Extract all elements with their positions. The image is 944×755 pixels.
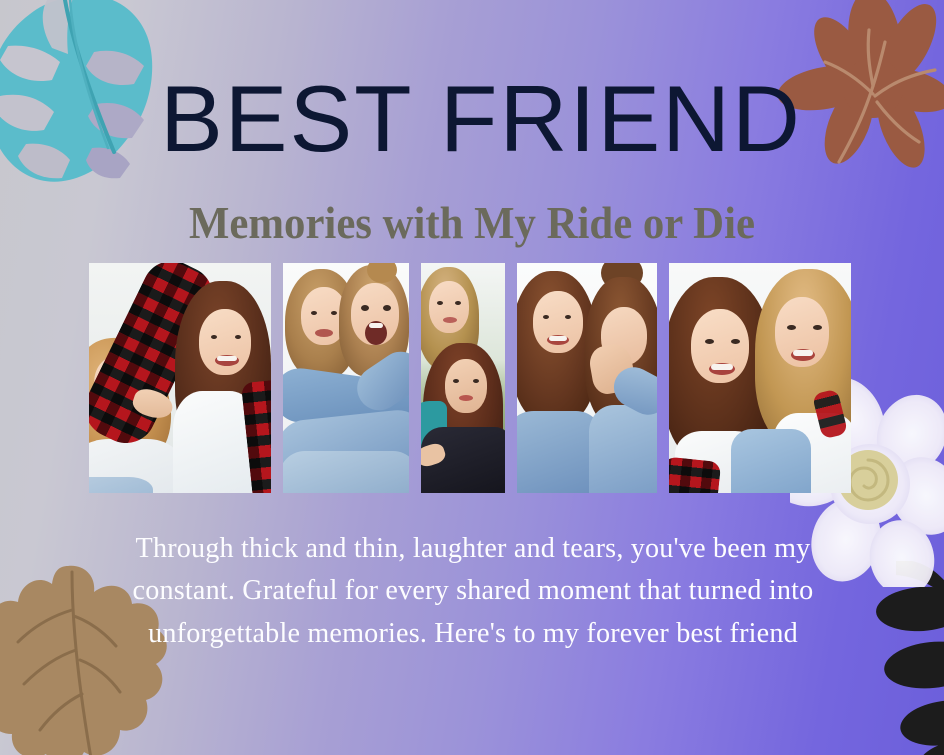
poster-quote: Through thick and thin, laughter and tea… xyxy=(90,527,856,654)
poster-title: BEST FRIEND xyxy=(0,72,944,166)
photo-item xyxy=(669,263,851,493)
photo-strip xyxy=(89,263,855,493)
photo-item xyxy=(421,263,505,493)
poster-canvas: BEST FRIEND Memories with My Ride or Die xyxy=(0,0,944,755)
olive-branch-icon xyxy=(844,561,944,755)
poster-subtitle: Memories with My Ride or Die xyxy=(33,199,911,247)
photo-item xyxy=(283,263,409,493)
photo-item xyxy=(89,263,271,493)
photo-item xyxy=(517,263,657,493)
